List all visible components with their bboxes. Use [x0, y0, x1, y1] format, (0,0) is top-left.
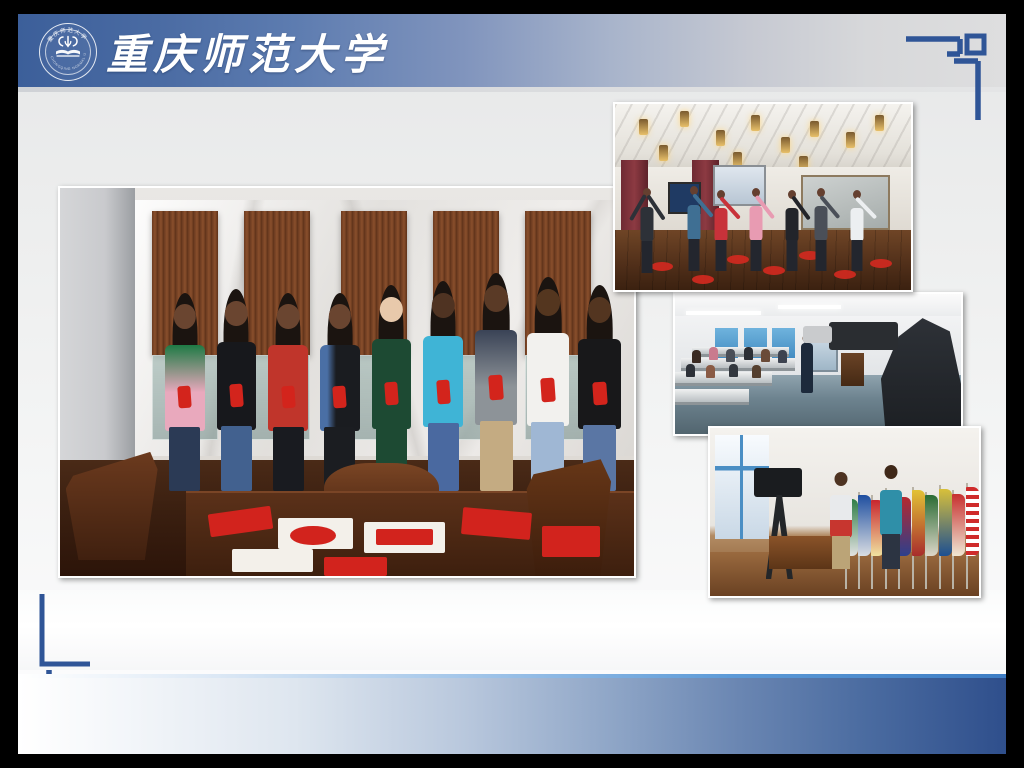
- lecture-hall-photo[interactable]: [673, 292, 963, 436]
- bottom-band: [18, 678, 1006, 754]
- photo-scene: [60, 188, 634, 576]
- photo-scene: [675, 294, 961, 434]
- caption-area: 9月18日，重庆电视台采访国际汉语文化学院孔子学院奖学金南亚国家汉语师资班（斯里…: [18, 590, 1006, 670]
- logo-ring-text: 重庆师范大学 CHONGQING NORMAL UNIVERSITY: [39, 23, 97, 81]
- dance-studio-photo[interactable]: [613, 102, 913, 292]
- header-underline: [18, 87, 1006, 92]
- flag-wall-interview-photo[interactable]: [708, 426, 981, 598]
- slide-outer-frame: 重庆师范大学 CHONGQING NORMAL UNIVERSITY 重庆师范大…: [0, 0, 1024, 768]
- group-photo-paper-cutting[interactable]: [58, 186, 636, 578]
- presentation-slide: 重庆师范大学 CHONGQING NORMAL UNIVERSITY 重庆师范大…: [18, 14, 1006, 754]
- university-logo: 重庆师范大学 CHONGQING NORMAL UNIVERSITY: [39, 23, 97, 81]
- photo-scene: [615, 104, 911, 290]
- photo-scene: [710, 428, 979, 596]
- university-title: 重庆师范大学: [106, 22, 388, 80]
- svg-text:重庆师范大学: 重庆师范大学: [46, 26, 90, 44]
